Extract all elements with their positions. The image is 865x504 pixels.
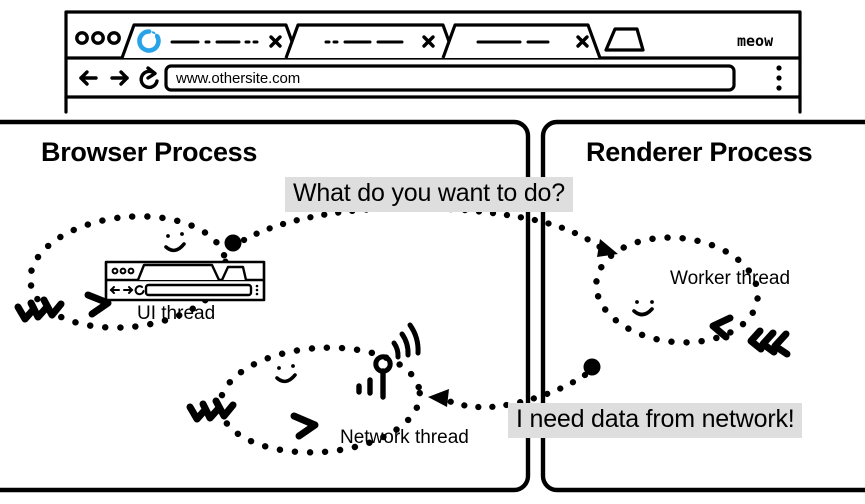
network-thread-motion-lines [190, 401, 233, 419]
message-i-need-data: I need data from network! [508, 403, 802, 438]
worker-thread-label: Worker thread [670, 268, 790, 290]
ui-thread-label: UI thread [137, 303, 215, 325]
browser-window-icon-menu [256, 285, 259, 296]
worker-thread-face [634, 300, 654, 314]
network-thread-loop-arrow [294, 416, 315, 436]
msg-what-origin-dot [225, 235, 242, 252]
browser-window-icon [106, 262, 264, 300]
msg-what-arrow-path [244, 208, 604, 250]
message-what-do-you-want: What do you want to do? [285, 177, 573, 212]
antenna-icon [359, 325, 418, 397]
msg-what-arrowhead [597, 239, 618, 257]
msg-data-arrowhead [428, 389, 449, 407]
worker-thread-loop [591, 230, 763, 350]
worker-thread-motion-lines [751, 331, 787, 354]
network-thread-label: Network thread [340, 427, 469, 449]
worker-thread-loop-arrow [713, 318, 730, 337]
diagram-canvas: www.othersite.com meow Browser Process R… [0, 0, 865, 504]
network-thread-face [277, 364, 295, 381]
ui-thread-motion-lines [18, 300, 61, 319]
ui-thread-face [166, 232, 184, 250]
